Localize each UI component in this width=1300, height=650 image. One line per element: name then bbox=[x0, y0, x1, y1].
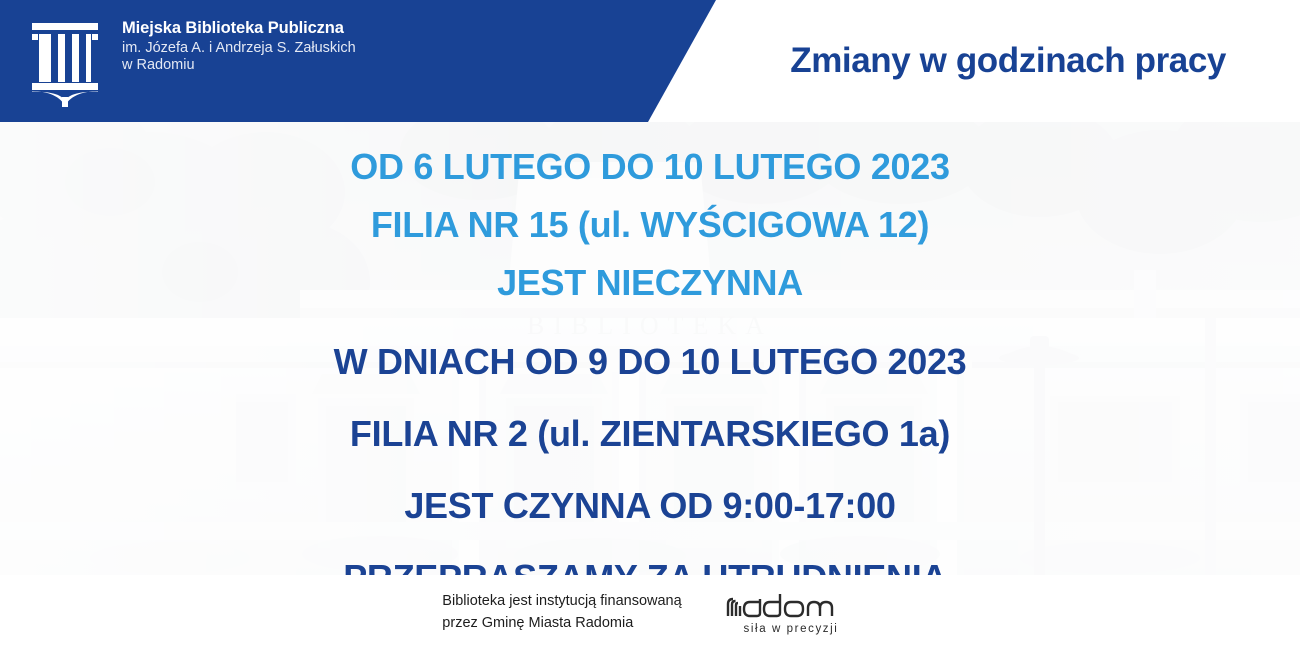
brand-line-1: Miejska Biblioteka Publiczna bbox=[122, 20, 356, 37]
closure-notice-line-1: OD 6 LUTEGO DO 10 LUTEGO 2023 bbox=[0, 138, 1300, 196]
funding-note-line-2: przez Gminę Miasta Radomia bbox=[442, 613, 681, 634]
radom-tagline: siła w precyzji bbox=[743, 623, 838, 635]
library-brand: Miejska Biblioteka Publiczna im. Józefa … bbox=[22, 17, 356, 107]
poster-root: BIBLIOTEKA bbox=[0, 0, 1300, 650]
closure-notice-block: OD 6 LUTEGO DO 10 LUTEGO 2023 FILIA NR 1… bbox=[0, 138, 1300, 312]
open-hours-line-1: W DNIACH OD 9 DO 10 LUTEGO 2023 bbox=[0, 326, 1300, 398]
open-hours-line-2: FILIA NR 2 (ul. ZIENTARSKIEGO 1a) bbox=[0, 398, 1300, 470]
funding-note-line-1: Biblioteka jest instytucją finansowaną bbox=[442, 591, 681, 612]
open-hours-line-3: JEST CZYNNA OD 9:00-17:00 bbox=[0, 470, 1300, 542]
closure-notice-line-3: JEST NIECZYNNA bbox=[0, 254, 1300, 312]
library-brand-text: Miejska Biblioteka Publiczna im. Józefa … bbox=[122, 17, 356, 76]
page-title: Zmiany w godzinach pracy bbox=[790, 0, 1226, 122]
brand-line-3: w Radomiu bbox=[122, 58, 356, 73]
header-bar: Miejska Biblioteka Publiczna im. Józefa … bbox=[0, 0, 1300, 122]
closure-notice-line-2: FILIA NR 15 (ul. WYŚCIGOWA 12) bbox=[0, 196, 1300, 254]
funding-note: Biblioteka jest instytucją finansowaną p… bbox=[442, 591, 681, 633]
radom-wordmark-icon: siła w precyzji bbox=[724, 590, 858, 636]
message-body: OD 6 LUTEGO DO 10 LUTEGO 2023 FILIA NR 1… bbox=[0, 122, 1300, 575]
library-columns-book-icon bbox=[22, 17, 108, 107]
footer-bar: Biblioteka jest instytucją finansowaną p… bbox=[0, 575, 1300, 650]
brand-line-2: im. Józefa A. i Andrzeja S. Załuskich bbox=[122, 41, 356, 56]
open-hours-notice-block: W DNIACH OD 9 DO 10 LUTEGO 2023 FILIA NR… bbox=[0, 326, 1300, 614]
